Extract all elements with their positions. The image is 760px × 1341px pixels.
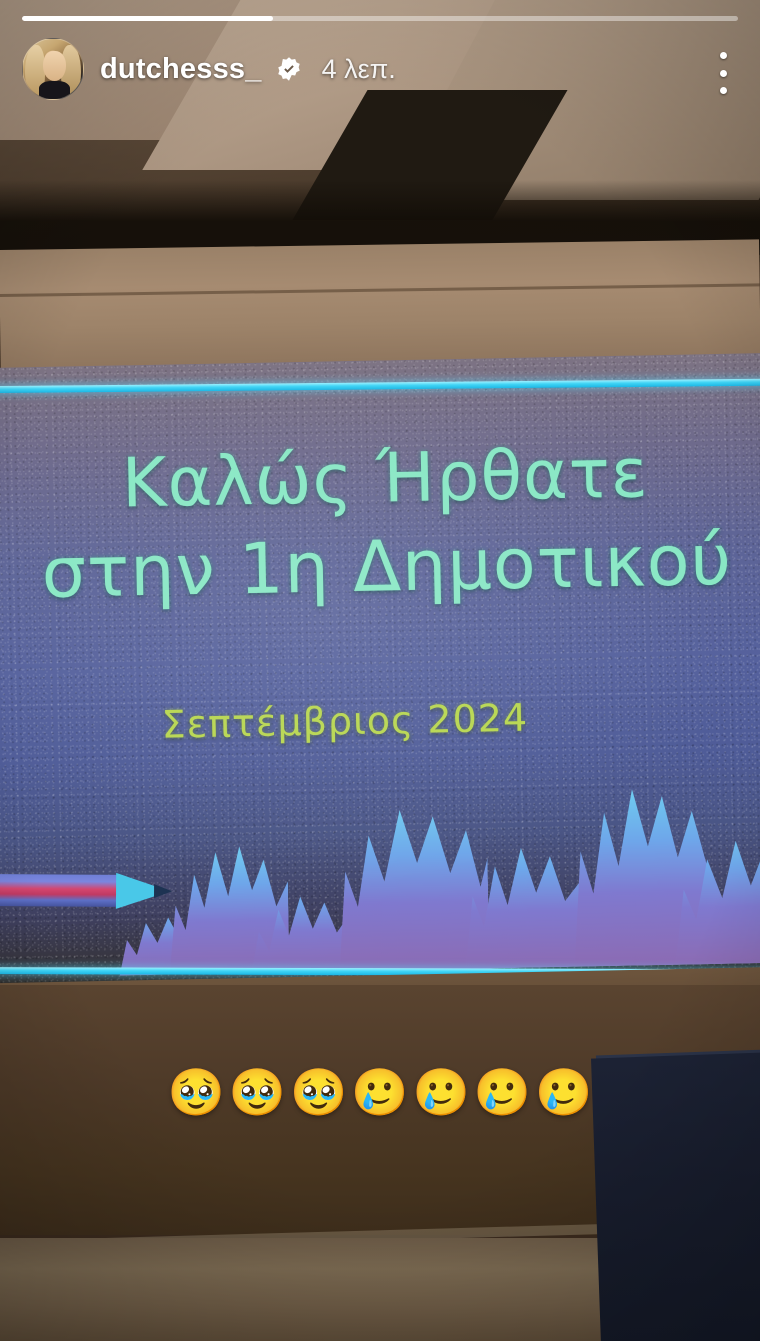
pencil-shavings-illustration <box>0 745 760 978</box>
story-photo: Καλώς Ήρθατε στην 1η Δημοτικού Σεπτέμβρι… <box>0 0 760 1341</box>
username-label[interactable]: dutchesss_ <box>100 53 262 86</box>
slide-date: Σεπτέμβριος 2024 <box>0 692 695 749</box>
slide-title-line-1: Καλώς Ήρθατε <box>121 434 649 523</box>
avatar-face <box>43 51 66 81</box>
timestamp-label: 4 λεπ. <box>322 54 396 85</box>
emoji-sticker: 🥲 <box>535 1069 592 1115</box>
instagram-story-viewer[interactable]: Καλώς Ήρθατε στην 1η Δημοτικού Σεπτέμβρι… <box>0 0 760 1341</box>
slide-rule-top <box>0 378 760 393</box>
emoji-sticker-row[interactable]: 🥹 🥹 🥹 🥲 🥲 🥲 🥲 <box>0 1069 760 1115</box>
avatar[interactable] <box>22 38 84 100</box>
more-dot <box>720 87 727 94</box>
slide-title-line-2: στην 1η Δημοτικού <box>0 522 760 613</box>
story-header: dutchesss_ 4 λεπ. <box>22 38 738 100</box>
emoji-sticker: 🥲 <box>351 1069 408 1115</box>
emoji-sticker: 🥲 <box>474 1069 531 1115</box>
slide-title: Καλώς Ήρθατε στην 1η Δημοτικού <box>0 435 760 613</box>
more-dot <box>720 52 727 59</box>
emoji-sticker: 🥲 <box>413 1069 470 1115</box>
emoji-sticker: 🥹 <box>290 1069 347 1115</box>
avatar-torso <box>39 81 70 99</box>
story-progress-bar[interactable] <box>22 16 738 21</box>
story-progress-fill <box>22 16 273 21</box>
more-options-icon[interactable] <box>710 52 736 94</box>
projection-slide: Καλώς Ήρθατε στην 1η Δημοτικού Σεπτέμβρι… <box>0 353 760 1008</box>
verified-badge-icon <box>276 56 302 82</box>
pencil-shaving <box>336 791 489 972</box>
emoji-sticker: 🥹 <box>168 1069 225 1115</box>
emoji-sticker: 🥹 <box>229 1069 286 1115</box>
more-dot <box>720 70 727 77</box>
